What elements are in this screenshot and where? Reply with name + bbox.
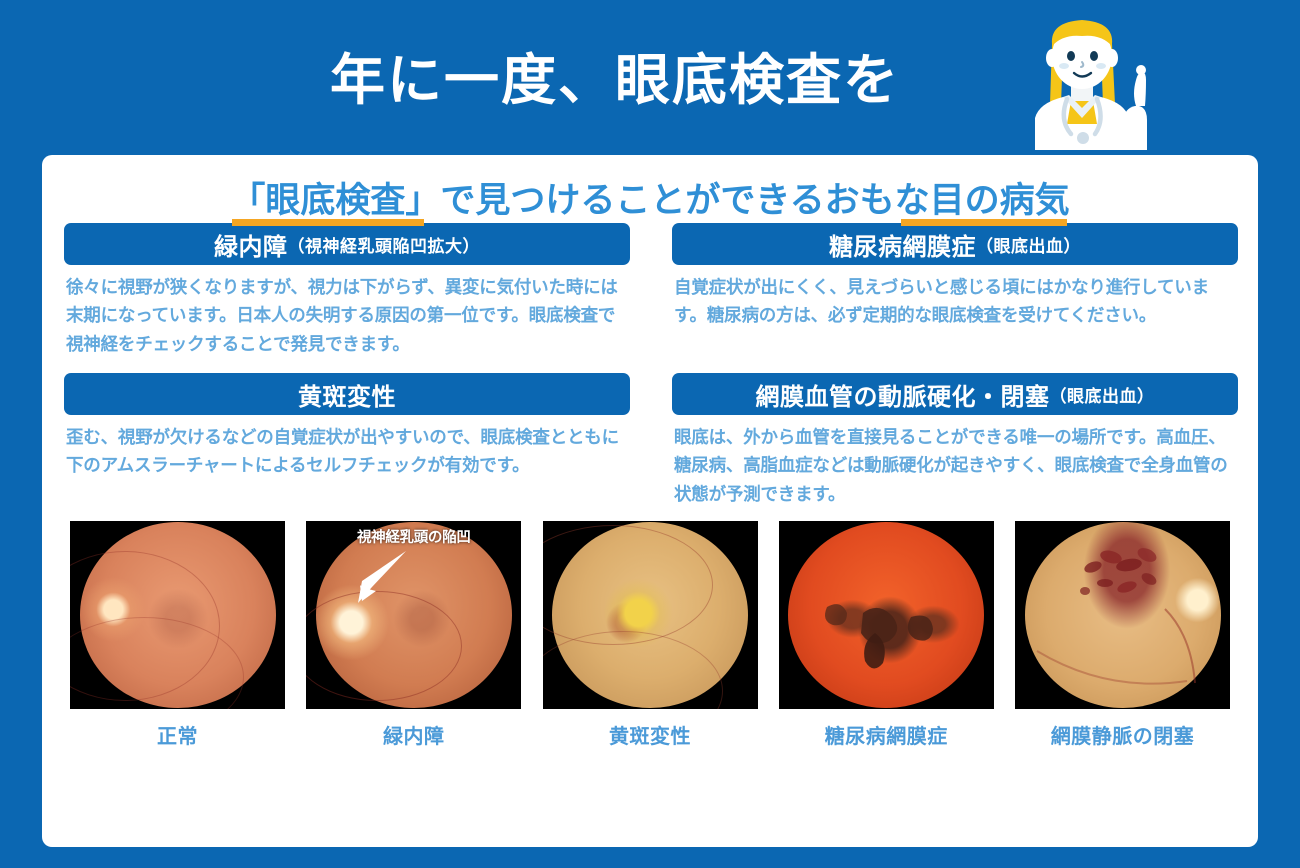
fundus-cell-diabetic-retinopathy: 糖尿病網膜症	[779, 521, 994, 749]
fundus-photo-normal	[70, 521, 285, 709]
disease-title-bar-retinal-vessel: 網膜血管の動脈硬化・閉塞（眼底出血）	[672, 373, 1238, 415]
fundus-cell-vein-occlusion: 網膜静脈の閉塞	[1015, 521, 1230, 749]
description-text: 眼底は、外から血管を直接見ることができる唯一の場所です。高血圧、糖尿病、高脂血症…	[674, 424, 1236, 509]
underline-highlight-right	[901, 219, 1067, 226]
female-doctor-illustration	[1005, 0, 1160, 150]
disease-description-diabetic-retinopathy: 自覚症状が出にくく、見えづらいと感じる頃にはかなり進行しています。糖尿病の方は、…	[672, 274, 1238, 331]
fundus-photo-vein-occlusion	[1015, 521, 1230, 709]
disease-title-sub: （眼底出血）	[1050, 382, 1155, 407]
fundus-cell-macular-degeneration: 黄斑変性	[543, 521, 758, 749]
fundus-cell-glaucoma: 視神経乳頭の陥凹 緑内障	[306, 521, 521, 749]
disease-block-glaucoma: 緑内障（視神経乳頭陥凹拡大） 徐々に視野が狭くなりますが、視力は下がらず、異変に…	[64, 223, 630, 359]
disease-title-sub: （視神経乳頭陥凹拡大）	[288, 232, 481, 257]
description-text: 自覚症状が出にくく、見えづらいと感じる頃にはかなり進行しています。糖尿病の方は、…	[674, 274, 1236, 331]
disease-title-main: 緑内障	[214, 227, 288, 262]
annotation-arrow-icon	[346, 547, 416, 607]
fundus-photo-strip: 正常 視神経乳頭の陥凹 緑内障	[42, 521, 1258, 749]
disease-block-retinal-vessel: 網膜血管の動脈硬化・閉塞（眼底出血） 眼底は、外から血管を直接見ることができる唯…	[672, 373, 1238, 509]
fundus-caption: 糖尿病網膜症	[779, 720, 994, 749]
hemorrhage-overlay	[779, 521, 994, 709]
disease-block-diabetic-retinopathy: 糖尿病網膜症（眼底出血） 自覚症状が出にくく、見えづらいと感じる頃にはかなり進行…	[672, 223, 1238, 359]
doctor-svg	[1005, 0, 1160, 150]
content-card: 「眼底検査」で見つけることができるおもな目の病気 緑内障（視神経乳頭陥凹拡大） …	[42, 155, 1258, 847]
poster-header: 年に一度、眼底検査を	[0, 0, 1300, 150]
page-title: 年に一度、眼底検査を	[330, 35, 900, 115]
fundus-photo-diabetic-retinopathy	[779, 521, 994, 709]
disease-block-macular-degeneration: 黄斑変性 歪む、視野が欠けるなどの自覚症状が出やすいので、眼底検査とともに下のア…	[64, 373, 630, 509]
fundus-caption: 緑内障	[306, 720, 521, 749]
card-subtitle: 「眼底検査」で見つけることができるおもな目の病気	[230, 172, 1069, 223]
description-text: 徐々に視野が狭くなりますが、視力は下がらず、異変に気付いた時には末期になっていま…	[66, 274, 628, 359]
disease-title-main: 網膜血管の動脈硬化・閉塞	[756, 377, 1050, 412]
disease-title-bar-diabetic-retinopathy: 糖尿病網膜症（眼底出血）	[672, 223, 1238, 265]
fundus-cell-normal: 正常	[70, 521, 285, 749]
subtitle-area: 「眼底検査」で見つけることができるおもな目の病気	[42, 155, 1258, 217]
fundus-photo-glaucoma: 視神経乳頭の陥凹	[306, 521, 521, 709]
disease-description-retinal-vessel: 眼底は、外から血管を直接見ることができる唯一の場所です。高血圧、糖尿病、高脂血症…	[672, 424, 1238, 509]
fundus-photo-macular-degeneration	[543, 521, 758, 709]
disease-title-main: 黄斑変性	[298, 377, 396, 412]
disease-description-macular-degeneration: 歪む、視野が欠けるなどの自覚症状が出やすいので、眼底検査とともに下のアムスラーチ…	[64, 424, 630, 481]
disease-grid: 緑内障（視神経乳頭陥凹拡大） 徐々に視野が狭くなりますが、視力は下がらず、異変に…	[42, 223, 1258, 509]
fundus-caption: 網膜静脈の閉塞	[1015, 720, 1230, 749]
disease-title-main: 糖尿病網膜症	[829, 227, 976, 262]
description-text: 歪む、視野が欠けるなどの自覚症状が出やすいので、眼底検査とともに下のアムスラーチ…	[66, 424, 628, 481]
disease-description-glaucoma: 徐々に視野が狭くなりますが、視力は下がらず、異変に気付いた時には末期になっていま…	[64, 274, 630, 359]
subtitle-text: 「眼底検査」で見つけることができるおもな目の病気	[230, 181, 1069, 221]
disease-title-sub: （眼底出血）	[976, 232, 1081, 257]
underline-highlight-left	[232, 219, 424, 226]
fundus-caption: 黄斑変性	[543, 720, 758, 749]
disease-title-bar-glaucoma: 緑内障（視神経乳頭陥凹拡大）	[64, 223, 630, 265]
infographic-poster: 年に一度、眼底検査を	[0, 0, 1300, 868]
hemorrhage-overlay	[1015, 521, 1230, 709]
fundus-annotation-label: 視神経乳頭の陥凹	[306, 526, 521, 547]
disease-title-bar-macular-degeneration: 黄斑変性	[64, 373, 630, 415]
fundus-caption: 正常	[70, 720, 285, 749]
